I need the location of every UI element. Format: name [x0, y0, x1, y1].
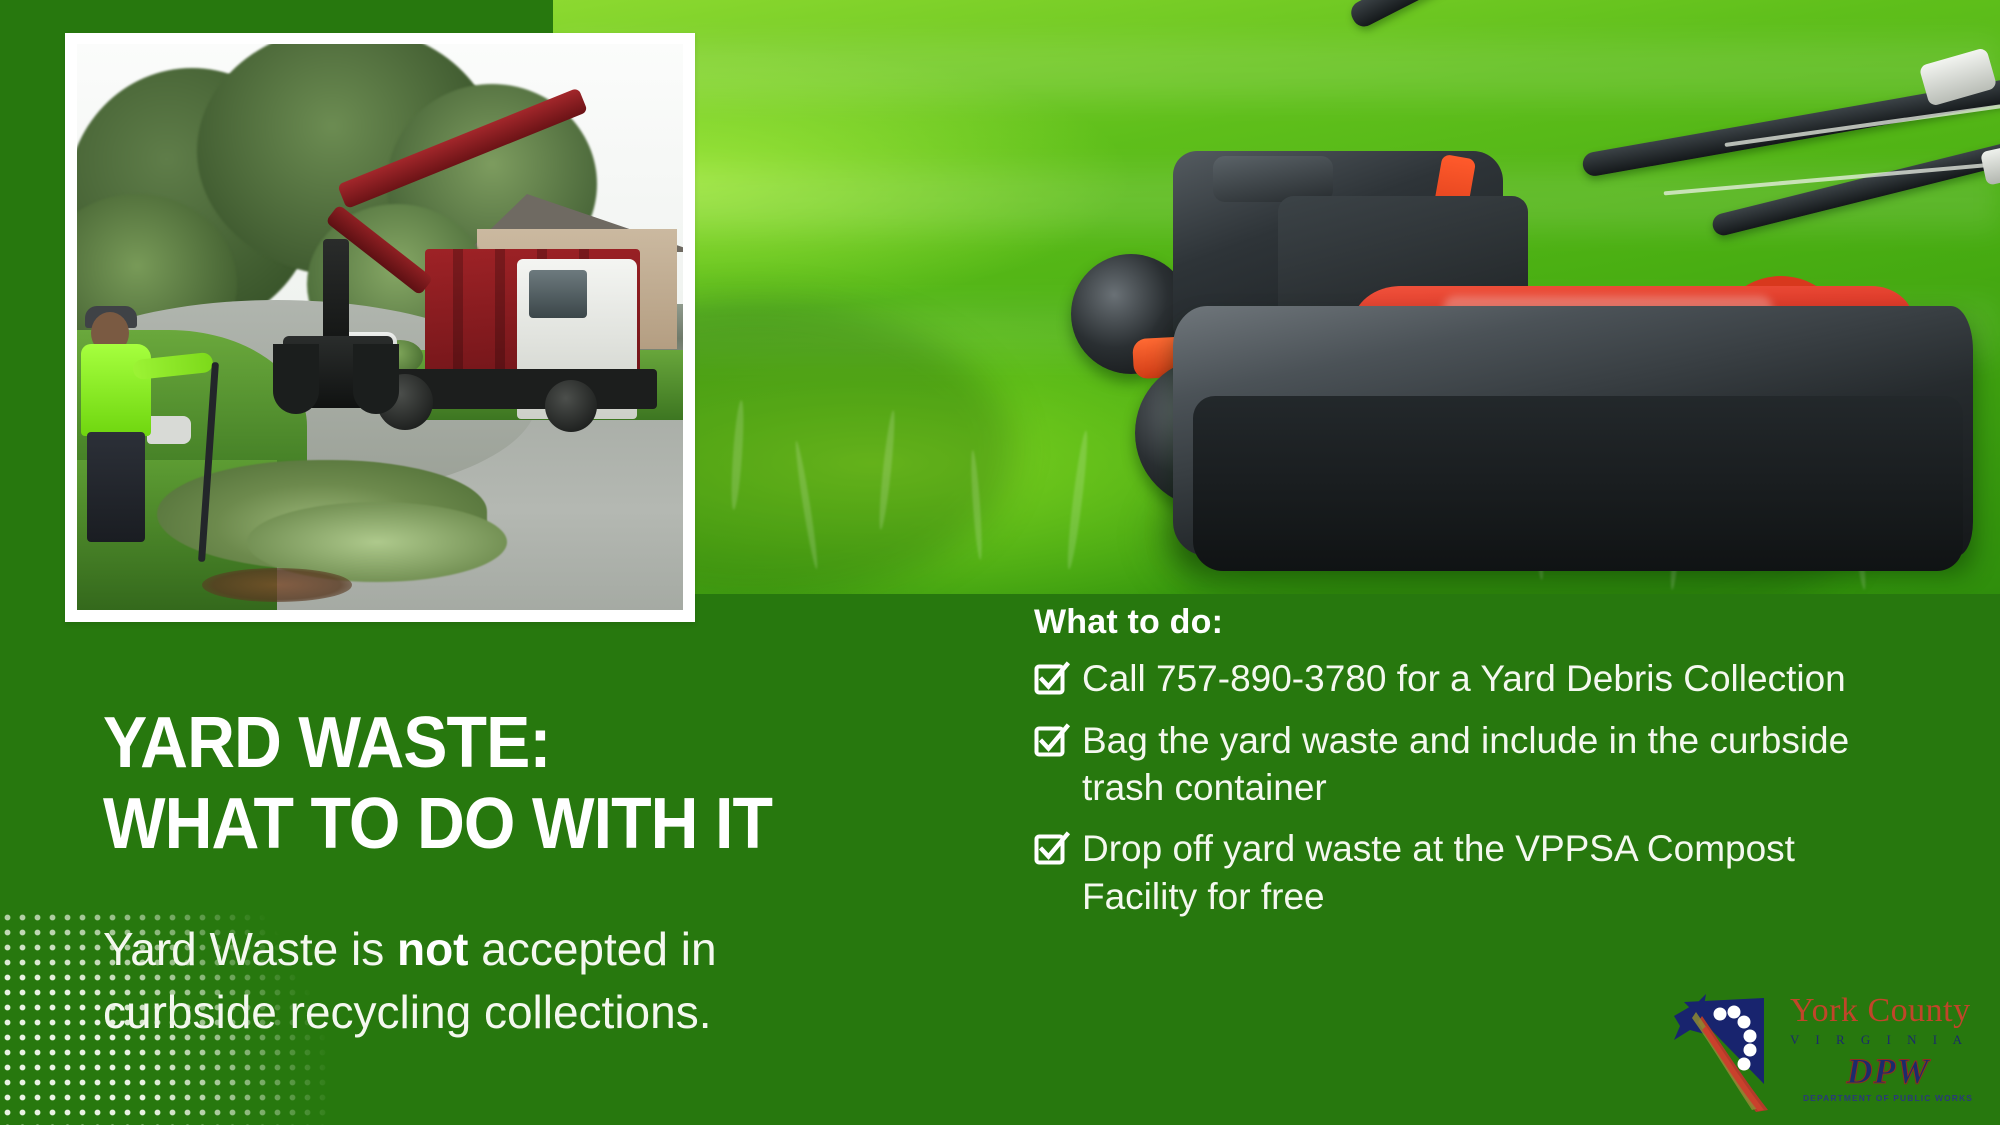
hero-lawn-mower-photo	[553, 0, 2000, 594]
list-item: Call 757-890-3780 for a Yard Debris Coll…	[1034, 655, 1894, 702]
logo-county-name: York County	[1790, 994, 1986, 1028]
list-item-label: Drop off yard waste at the VPPSA Compost…	[1082, 825, 1894, 920]
inset-photo-frame	[65, 33, 695, 622]
checkbox-checked-icon	[1034, 662, 1068, 696]
york-county-dpw-logo: York County V I R G I N I A DPW DEPARTME…	[1672, 988, 1984, 1118]
checkbox-checked-icon	[1034, 724, 1068, 758]
list-item: Drop off yard waste at the VPPSA Compost…	[1034, 825, 1894, 920]
list-item-label: Call 757-890-3780 for a Yard Debris Coll…	[1082, 655, 1846, 702]
list-item: Bag the yard waste and include in the cu…	[1034, 717, 1894, 812]
subtitle: Yard Waste is not accepted in curbside r…	[103, 918, 903, 1043]
logo-state-name: V I R G I N I A	[1790, 1032, 1986, 1048]
headline-line-1: YARD WASTE:	[103, 703, 949, 784]
comet-star-icon	[1672, 992, 1790, 1114]
logo-division-abbr: DPW	[1790, 1053, 1986, 1089]
subtitle-emphasis: not	[397, 923, 469, 975]
headline-line-2: WHAT TO DO WITH IT	[103, 784, 949, 865]
logo-wordmark: York County V I R G I N I A DPW DEPARTME…	[1790, 994, 1986, 1103]
lawn-mower-illustration	[1023, 96, 2000, 566]
logo-division-full: DEPARTMENT OF PUBLIC WORKS	[1790, 1093, 1986, 1103]
list-item-label: Bag the yard waste and include in the cu…	[1082, 717, 1894, 812]
checkbox-checked-icon	[1034, 832, 1068, 866]
poster-canvas: YARD WASTE: WHAT TO DO WITH IT Yard Wast…	[0, 0, 2000, 1125]
yard-debris-truck-photo	[77, 44, 683, 610]
what-to-do-list: Call 757-890-3780 for a Yard Debris Coll…	[1034, 655, 1894, 920]
what-to-do-title: What to do:	[1034, 604, 1894, 641]
page-title: YARD WASTE: WHAT TO DO WITH IT	[103, 703, 1023, 864]
what-to-do-section: What to do: Call 757-890-3780 for a Yard…	[1034, 604, 1894, 934]
subtitle-part-1: Yard Waste is	[103, 923, 397, 975]
